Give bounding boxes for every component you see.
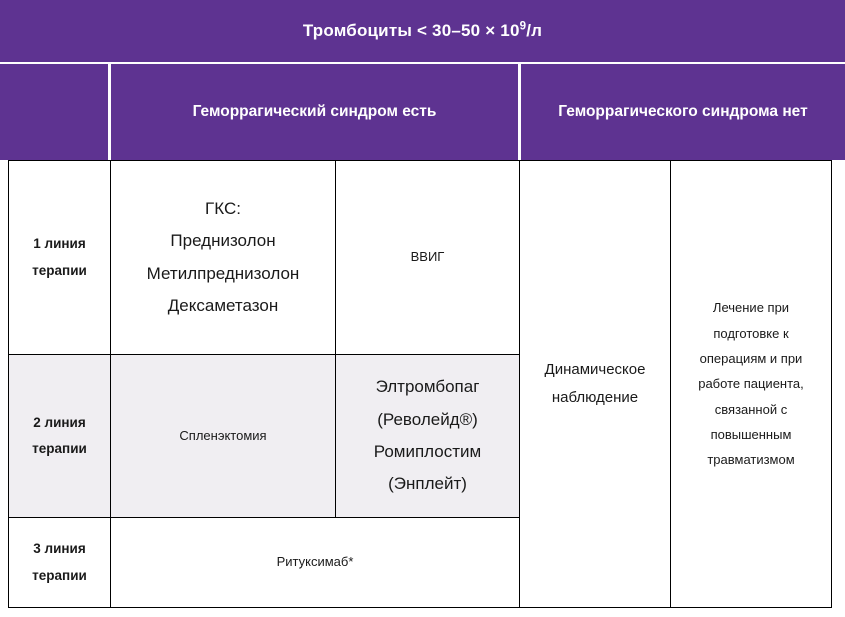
corticosteroids-drug-1: Преднизолон xyxy=(119,225,327,257)
cell-line3-rituximab: Ритуксимаб* xyxy=(110,517,520,608)
corticosteroids-drug-2: Метилпреднизолон xyxy=(119,258,327,290)
row-label-line2-text: 2 линия терапии xyxy=(17,410,102,463)
cell-line2-tpo-agonists: Элтромбопаг (Револейд®) Ромиплостим (Энп… xyxy=(335,354,520,518)
row-label-line3-text: 3 линия терапии xyxy=(17,536,102,589)
row-label-line1: 1 линия терапии xyxy=(8,160,111,355)
header-hemorrhagic-yes-label: Геморрагический синдром есть xyxy=(193,98,437,125)
table-body: 1 линия терапии 2 линия терапии 3 линия … xyxy=(8,160,832,608)
cell-preop-treatment: Лечение при подготовке к операциям и при… xyxy=(670,160,832,608)
header-hemorrhagic-no-label: Геморрагического синдрома нет xyxy=(558,98,807,125)
dynamic-observation-line-1: Динамическое xyxy=(528,356,662,385)
table-header-row: Геморрагический синдром есть Геморрагиче… xyxy=(0,64,845,160)
header-cell-blank xyxy=(0,64,108,160)
tpo-drug-1: Элтромбопаг xyxy=(344,371,511,403)
cell-line1-corticosteroids: ГКС: Преднизолон Метилпреднизолон Дексам… xyxy=(110,160,336,355)
row-label-line1-text: 1 линия терапии xyxy=(17,231,102,284)
therapy-table: Тромбоциты < 30–50 × 109/л Геморрагическ… xyxy=(0,0,845,617)
title-prefix: Тромбоциты < 30–50 × 10 xyxy=(303,21,520,40)
preop-treatment-text: Лечение при подготовке к операциям и при… xyxy=(679,295,823,472)
header-cell-hemorrhagic-no: Геморрагического синдрома нет xyxy=(521,64,845,160)
tpo-drug-1-brand: (Револейд®) xyxy=(344,404,511,436)
header-cell-hemorrhagic-yes: Геморрагический синдром есть xyxy=(111,64,518,160)
tpo-agonists-list: Элтромбопаг (Револейд®) Ромиплостим (Энп… xyxy=(344,371,511,500)
dynamic-observation-line-2: наблюдение xyxy=(528,384,662,413)
splenectomy-text: Спленэктомия xyxy=(119,424,327,449)
row-label-line2: 2 линия терапии xyxy=(8,354,111,518)
title-suffix: /л xyxy=(526,21,542,40)
corticosteroids-title: ГКС: xyxy=(119,193,327,225)
corticosteroids-list: ГКС: Преднизолон Метилпреднизолон Дексам… xyxy=(119,193,327,322)
table-title-bar: Тромбоциты < 30–50 × 109/л xyxy=(0,0,845,62)
rituximab-text: Ритуксимаб* xyxy=(119,550,511,575)
tpo-drug-2-brand: (Энплейт) xyxy=(344,468,511,500)
cell-line1-ivig: ВВИГ xyxy=(335,160,520,355)
cell-line2-splenectomy: Спленэктомия xyxy=(110,354,336,518)
row-label-line3: 3 линия терапии xyxy=(8,517,111,608)
tpo-drug-2: Ромиплостим xyxy=(344,436,511,468)
cell-dynamic-observation: Динамическое наблюдение xyxy=(519,160,671,608)
dynamic-observation-text: Динамическое наблюдение xyxy=(528,356,662,413)
ivig-text: ВВИГ xyxy=(344,245,511,270)
corticosteroids-drug-3: Дексаметазон xyxy=(119,290,327,322)
page-title: Тромбоциты < 30–50 × 109/л xyxy=(303,21,542,41)
